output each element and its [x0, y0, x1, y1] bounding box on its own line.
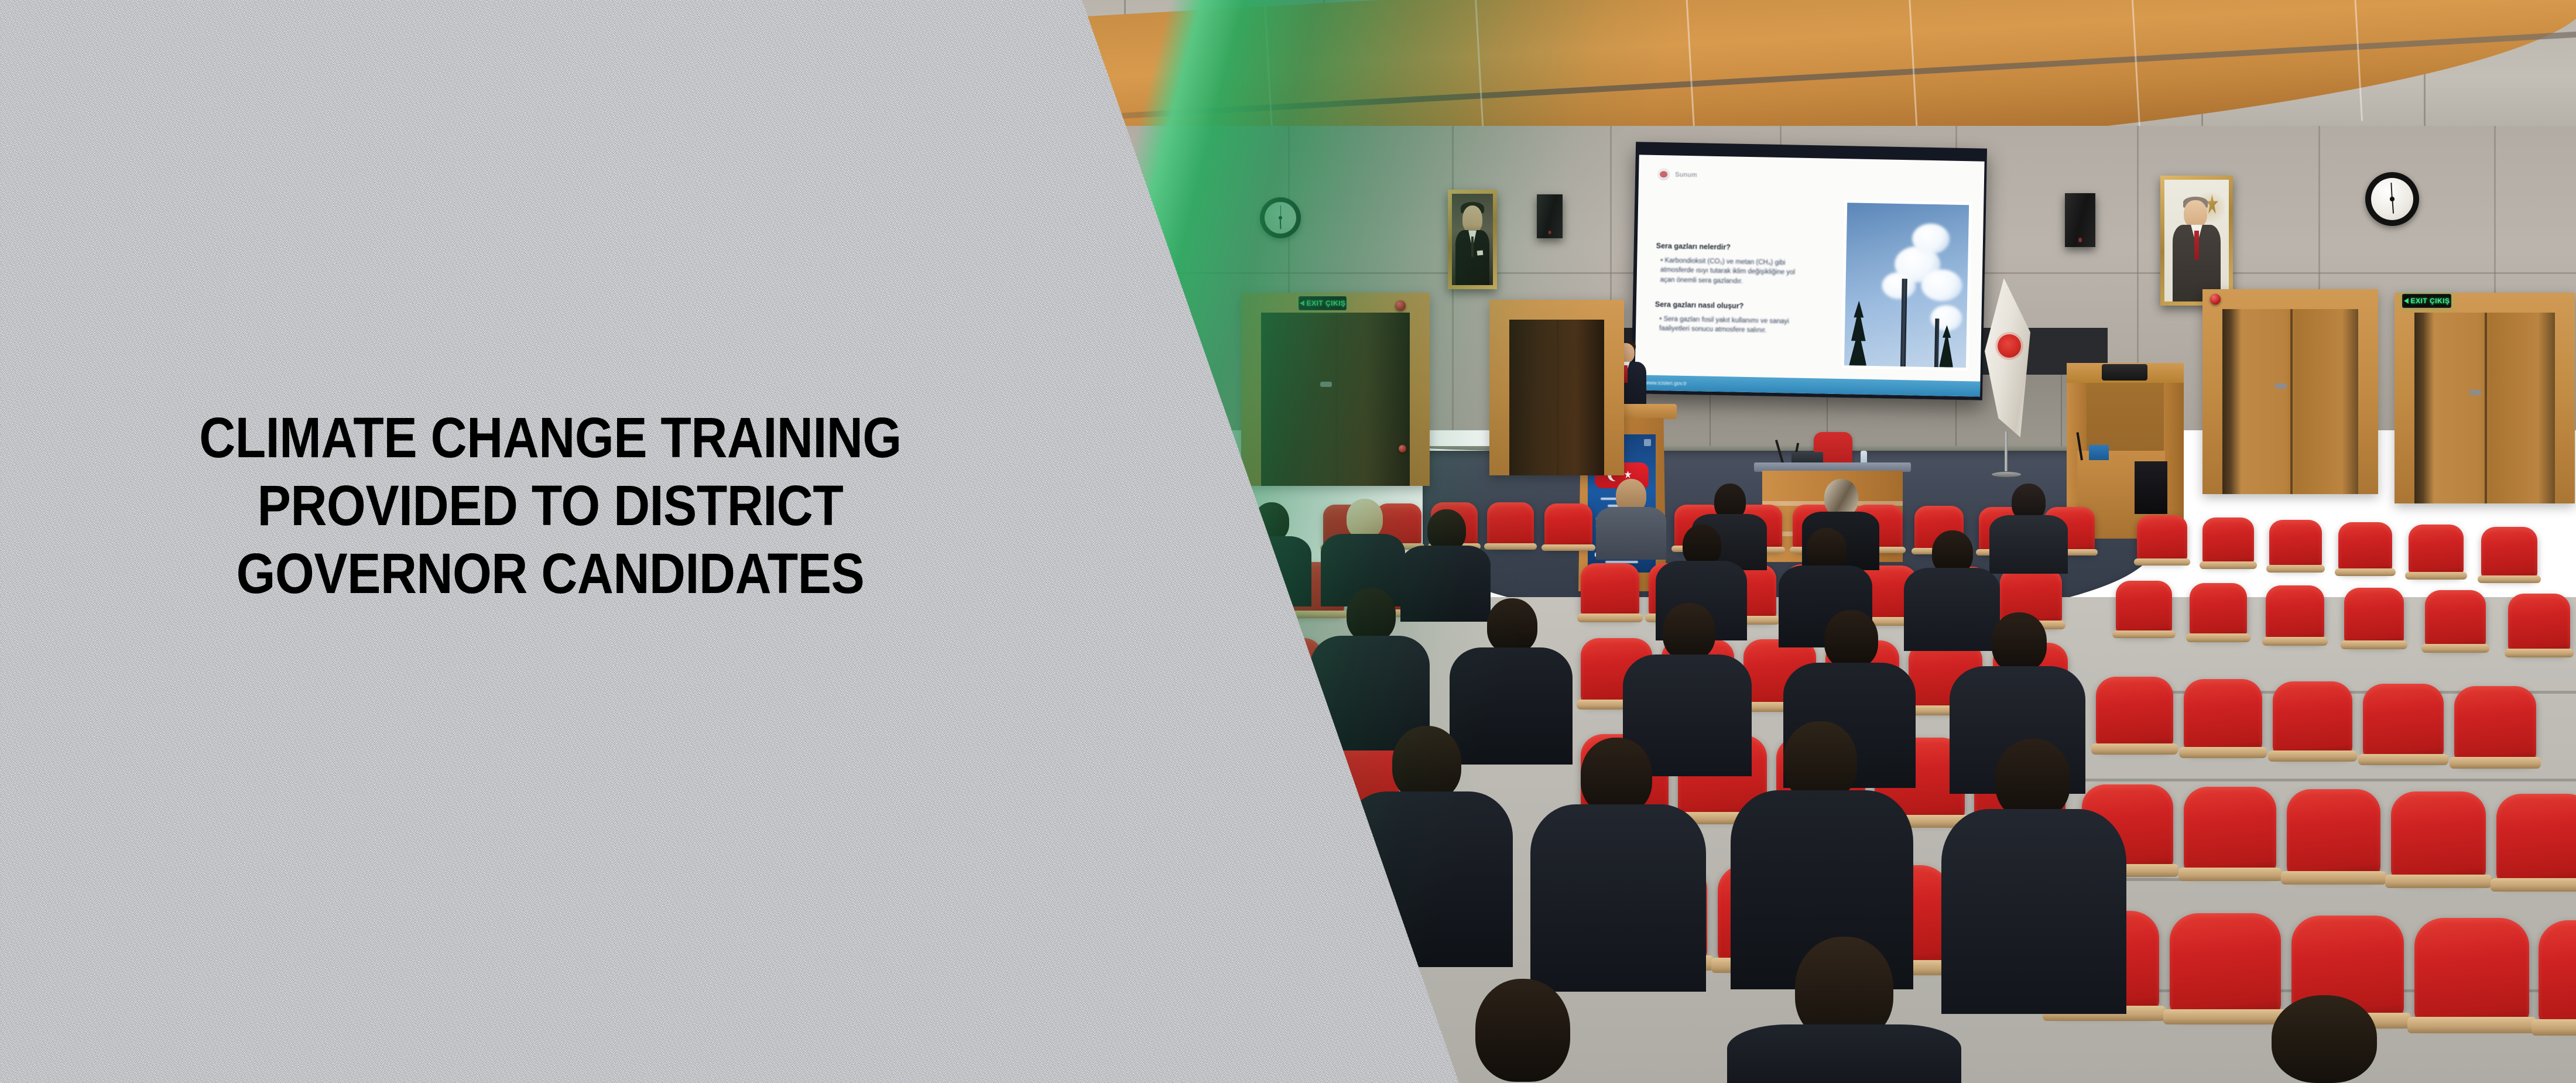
- slide-image-smokestack: [1841, 200, 1972, 371]
- presentation-slide: Sunum Sera gazları nelerdir? • Karbondio…: [1635, 155, 1985, 396]
- door-left: [1241, 293, 1430, 486]
- right-wall-clock: [2365, 172, 2419, 226]
- ministry-seal-icon: [1998, 334, 2021, 358]
- portrait-ataturk: [1448, 190, 1497, 289]
- slide-bullet-2: • Sera gazları fosil yakıt kullanımı ve …: [1659, 314, 1796, 336]
- headline-line-1: CLIMATE CHANGE TRAINING: [156, 404, 944, 472]
- exit-sign-right: EXIT ÇIKIŞ: [2402, 294, 2451, 308]
- headline-line-2: PROVIDED TO DISTRICT: [156, 472, 944, 540]
- exit-arrow-icon: [1300, 300, 1304, 306]
- banner-root: Sunum Sera gazları nelerdir? • Karbondio…: [0, 0, 2576, 1083]
- portrait-president: [2160, 176, 2233, 306]
- exit-sign-left: EXIT ÇIKIŞ: [1299, 296, 1347, 310]
- page-title: CLIMATE CHANGE TRAINING PROVIDED TO DIST…: [156, 404, 944, 608]
- av-equipment-rack: [2135, 461, 2167, 514]
- alarm-button-left-low: [1399, 445, 1406, 453]
- wall-speaker-right: [2065, 193, 2095, 247]
- desk-speaker: [2102, 364, 2147, 381]
- slide-footer-url: www.icisleri.gov.tr: [1645, 380, 1687, 386]
- slide-heading-1: Sera gazları nelerdir?: [1656, 242, 1731, 251]
- slide-logo-icon: [1657, 168, 1670, 180]
- headline-line-3: GOVERNOR CANDIDATES: [156, 540, 944, 608]
- slide-logo-row: Sunum: [1657, 168, 1697, 181]
- slide-logo-text: Sunum: [1675, 171, 1697, 179]
- alarm-button-left: [1395, 300, 1406, 311]
- left-wall-clock: [1260, 197, 1301, 238]
- podium-banner-logo-right: [1644, 439, 1651, 446]
- slide-bullet-1: • Karbondioksit (CO₂) ve metan (CH₄) gib…: [1660, 256, 1797, 287]
- ministry-flag: [1985, 278, 2041, 477]
- av-monitor: [2089, 445, 2109, 460]
- alarm-button-right: [2210, 294, 2221, 304]
- slide-heading-2: Sera gazları nasıl oluşur?: [1655, 300, 1744, 310]
- wall-speaker-left: [1537, 194, 1563, 238]
- door-center: [1489, 300, 1624, 475]
- door-right-b: [2395, 293, 2575, 503]
- projection-screen: Sunum Sera gazları nelerdir? • Karbondio…: [1631, 142, 1987, 400]
- exit-arrow-icon: [2404, 298, 2409, 304]
- door-right-a: [2202, 289, 2378, 494]
